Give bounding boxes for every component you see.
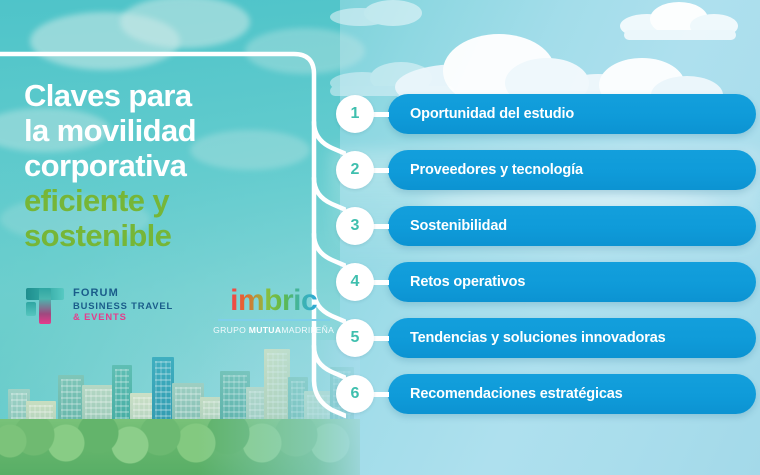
title-line-4: eficiente y (24, 183, 314, 218)
agenda-number: 4 (351, 274, 360, 290)
connector-stub (373, 168, 389, 173)
imbric-subtitle: GRUPO MUTUAMADRILEÑA (213, 325, 334, 335)
agenda-item[interactable]: 3 Sostenibilidad (336, 198, 756, 254)
agenda-list: 1 Oportunidad del estudio 2 Proveedores … (336, 86, 756, 422)
agenda-pill[interactable]: Oportunidad del estudio (388, 94, 756, 134)
slide-canvas: Claves para la movilidad corporativa efi… (0, 0, 760, 475)
agenda-label: Oportunidad del estudio (410, 106, 574, 122)
agenda-pill[interactable]: Recomendaciones estratégicas (388, 374, 756, 414)
forum-logo-line-3: & EVENTS (73, 311, 173, 322)
agenda-number-badge: 2 (336, 151, 374, 189)
page-title: Claves para la movilidad corporativa efi… (24, 78, 314, 253)
forum-business-travel-logo: FORUM BUSINESS TRAVEL & EVENTS (26, 286, 173, 324)
imbric-subtitle-suffix: MADRILEÑA (281, 325, 334, 335)
agenda-number: 6 (351, 386, 360, 402)
imbric-wordmark: imbric (213, 286, 334, 316)
connector-stub (373, 280, 389, 285)
imbric-subtitle-bold: MUTUA (249, 325, 282, 335)
agenda-number-badge: 6 (336, 375, 374, 413)
agenda-item[interactable]: 5 Tendencias y soluciones innovadoras (336, 310, 756, 366)
agenda-pill[interactable]: Tendencias y soluciones innovadoras (388, 318, 756, 358)
cloud-icon (620, 2, 740, 38)
agenda-number: 3 (351, 218, 360, 234)
connector-stub (373, 392, 389, 397)
forum-logo-text: FORUM BUSINESS TRAVEL & EVENTS (73, 287, 173, 322)
connector-stub (373, 336, 389, 341)
agenda-pill[interactable]: Retos operativos (388, 262, 756, 302)
imbric-subtitle-prefix: GRUPO (213, 325, 249, 335)
agenda-item[interactable]: 6 Recomendaciones estratégicas (336, 366, 756, 422)
agenda-pill[interactable]: Proveedores y tecnología (388, 150, 756, 190)
forum-logo-line-2: BUSINESS TRAVEL (73, 300, 173, 311)
logo-strip: FORUM BUSINESS TRAVEL & EVENTS imbric GR… (26, 286, 334, 335)
agenda-label: Proveedores y tecnología (410, 162, 583, 178)
title-line-5: sostenible (24, 218, 314, 253)
agenda-number-badge: 4 (336, 263, 374, 301)
agenda-label: Recomendaciones estratégicas (410, 386, 623, 402)
agenda-pill[interactable]: Sostenibilidad (388, 206, 756, 246)
title-line-3: corporativa (24, 148, 314, 183)
imbric-logo: imbric GRUPO MUTUAMADRILEÑA (213, 286, 334, 335)
agenda-item[interactable]: 2 Proveedores y tecnología (336, 142, 756, 198)
agenda-number: 5 (351, 330, 360, 346)
agenda-item[interactable]: 1 Oportunidad del estudio (336, 86, 756, 142)
agenda-number: 2 (351, 162, 360, 178)
connector-stub (373, 112, 389, 117)
agenda-number-badge: 5 (336, 319, 374, 357)
agenda-label: Tendencias y soluciones innovadoras (410, 330, 666, 346)
imbric-divider (218, 319, 330, 321)
forum-logo-line-1: FORUM (73, 287, 173, 300)
agenda-number-badge: 1 (336, 95, 374, 133)
agenda-label: Retos operativos (410, 274, 525, 290)
title-line-2: la movilidad (24, 113, 314, 148)
title-line-1: Claves para (24, 78, 314, 113)
connector-stub (373, 224, 389, 229)
forum-t-mark-icon (26, 286, 64, 324)
agenda-number: 1 (351, 106, 360, 122)
agenda-label: Sostenibilidad (410, 218, 507, 234)
agenda-number-badge: 3 (336, 207, 374, 245)
agenda-item[interactable]: 4 Retos operativos (336, 254, 756, 310)
